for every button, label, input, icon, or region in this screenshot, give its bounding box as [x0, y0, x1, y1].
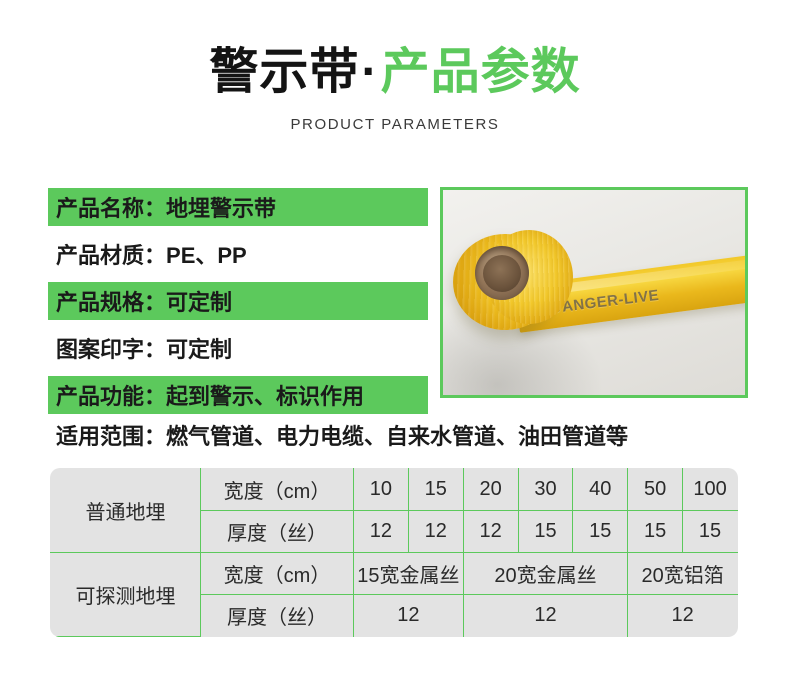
tape-roll-core [475, 246, 529, 300]
spec-row: 产品名称：地埋警示带 [48, 188, 428, 226]
spec-list: 产品名称：地埋警示带 产品材质：PE、PP 产品规格：可定制 图案印字：可定制 … [48, 188, 428, 423]
spec-row: 产品材质：PE、PP [48, 235, 428, 273]
specification-table: 普通地埋 宽度（cm） 10 15 20 30 40 50 100 厚度（丝） … [50, 468, 738, 637]
spec-row: 产品规格：可定制 [48, 282, 428, 320]
page-title: 警示带·产品参数 [0, 42, 790, 102]
table-group-label: 普通地埋 [51, 469, 201, 553]
table-cell: 12 [354, 511, 409, 553]
table-row: 可探测地埋 宽度（cm） 15宽金属丝 20宽金属丝 20宽铝箔 [51, 553, 738, 595]
spec-value: 可定制 [166, 285, 232, 317]
spec-value: PE、PP [166, 238, 247, 270]
page-header: 警示带·产品参数 PRODUCT PARAMETERS [0, 0, 790, 133]
table-sub-label: 宽度（cm） [201, 553, 354, 595]
title-main: 警示带 [209, 45, 359, 99]
table-cell: 20宽金属丝 [463, 553, 628, 595]
table-cell: 100 [683, 469, 738, 511]
table-cell: 30 [518, 469, 573, 511]
scope-row: 适用范围：燃气管道、电力电缆、自来水管道、油田管道等 [48, 418, 748, 452]
table-sub-label: 厚度（丝） [201, 511, 354, 553]
spec-label: 产品规格： [56, 285, 166, 317]
table-cell: 12 [408, 511, 463, 553]
table-cell: 12 [463, 595, 628, 637]
spec-row: 产品功能：起到警示、标识作用 [48, 376, 428, 414]
spec-label: 图案印字： [56, 332, 166, 364]
table-cell: 20 [463, 469, 518, 511]
table-cell: 12 [628, 595, 738, 637]
spec-value: 起到警示、标识作用 [166, 379, 364, 411]
table-cell: 50 [628, 469, 683, 511]
product-photo: DANGER-LIVE [440, 187, 748, 398]
title-separator: · [359, 45, 380, 99]
spec-label: 产品名称： [56, 191, 166, 223]
table-cell: 40 [573, 469, 628, 511]
table-cell: 12 [463, 511, 518, 553]
table-row: 普通地埋 宽度（cm） 10 15 20 30 40 50 100 [51, 469, 738, 511]
table-cell: 10 [354, 469, 409, 511]
table-cell: 15宽金属丝 [354, 553, 464, 595]
spec-value: 地埋警示带 [166, 191, 276, 223]
table-sub-label: 宽度（cm） [201, 469, 354, 511]
table-cell: 15 [628, 511, 683, 553]
table-cell: 20宽铝箔 [628, 553, 738, 595]
title-accent: 产品参数 [381, 45, 581, 99]
spec-label: 产品材质： [56, 238, 166, 270]
spec-label: 产品功能： [56, 379, 166, 411]
spec-value: 可定制 [166, 332, 232, 364]
table-sub-label: 厚度（丝） [201, 595, 354, 637]
page-subtitle: PRODUCT PARAMETERS [0, 116, 790, 133]
table-cell: 15 [518, 511, 573, 553]
tape-roll-core-hole [483, 255, 521, 292]
table-cell: 12 [354, 595, 464, 637]
scope-text: 适用范围：燃气管道、电力电缆、自来水管道、油田管道等 [56, 419, 628, 451]
table-cell: 15 [408, 469, 463, 511]
table-cell: 15 [683, 511, 738, 553]
spec-row: 图案印字：可定制 [48, 329, 428, 367]
table-cell: 15 [573, 511, 628, 553]
table-group-label: 可探测地埋 [51, 553, 201, 637]
